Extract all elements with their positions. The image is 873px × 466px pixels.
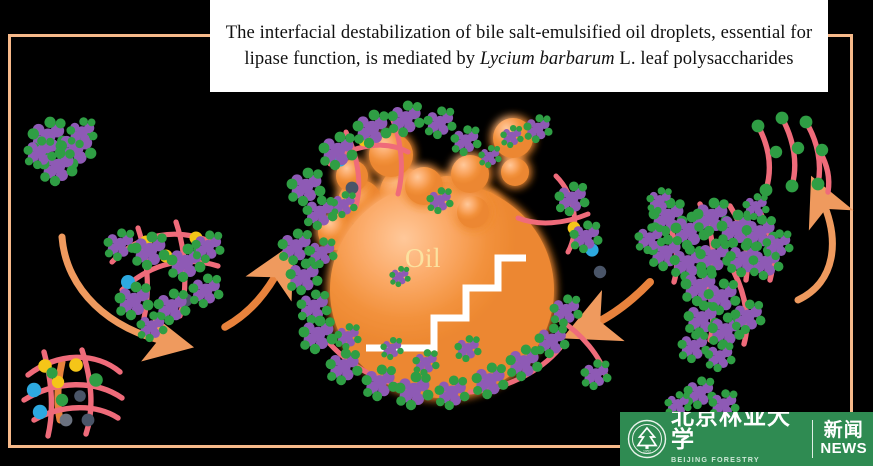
- university-name-cn: 北京林业大学: [671, 412, 805, 452]
- title-line-2-pre: lipase function, is mediated by: [244, 48, 480, 69]
- title-banner: The interfacial destabilization of bile …: [210, 0, 828, 92]
- arrow-complex-to-freebile: [798, 200, 832, 300]
- title-line-2-post: L. leaf polysaccharides: [615, 48, 794, 69]
- arrow-droplet-to-complex: [590, 282, 650, 326]
- news-block: 新闻 NEWS: [820, 421, 873, 457]
- cluster-bile-salt-micelle: [24, 350, 122, 436]
- arrow-bile-source: [58, 362, 62, 420]
- news-label-en: NEWS: [820, 441, 867, 457]
- graphical-abstract: Oil: [0, 0, 873, 466]
- species-name: Lycium barbarum: [480, 48, 615, 69]
- cluster-free-bile-salts: [752, 112, 829, 197]
- droplet-interface-polysaccharides: [278, 101, 612, 411]
- university-name-block: 北京林业大学 BEIJING FORESTRY UNIVERSITY: [667, 412, 805, 466]
- droplet-buds: [318, 168, 501, 250]
- news-label-cn: 新闻: [824, 421, 864, 441]
- arrow-stage1-to-stage2: [62, 237, 168, 342]
- title-line-1: The interfacial destabilization of bile …: [226, 22, 813, 43]
- cluster-complex-right: [634, 187, 793, 372]
- university-name-en: BEIJING FORESTRY UNIVERSITY: [671, 455, 805, 466]
- university-logo[interactable]: 1952 北京林业大学 BEIJING FORESTRY UNIVERSITY …: [620, 412, 873, 466]
- university-seal-icon: 1952: [627, 419, 667, 459]
- title-text: The interfacial destabilization of bile …: [226, 20, 813, 73]
- arrow-stage2-to-droplet: [225, 268, 280, 327]
- flow-arrows: [58, 200, 833, 420]
- oil-label: Oil: [405, 243, 441, 274]
- cluster-free-polysaccharide-1: [24, 117, 98, 187]
- cluster-polysaccharide-bilesalt-left: [104, 222, 225, 342]
- decorative-frame: [8, 34, 853, 448]
- released-droplets: [336, 118, 533, 228]
- oil-droplet-body: [330, 182, 554, 398]
- fatty-acid-chain: [366, 258, 526, 348]
- logo-divider: [812, 420, 813, 458]
- svg-text:1952: 1952: [643, 450, 651, 454]
